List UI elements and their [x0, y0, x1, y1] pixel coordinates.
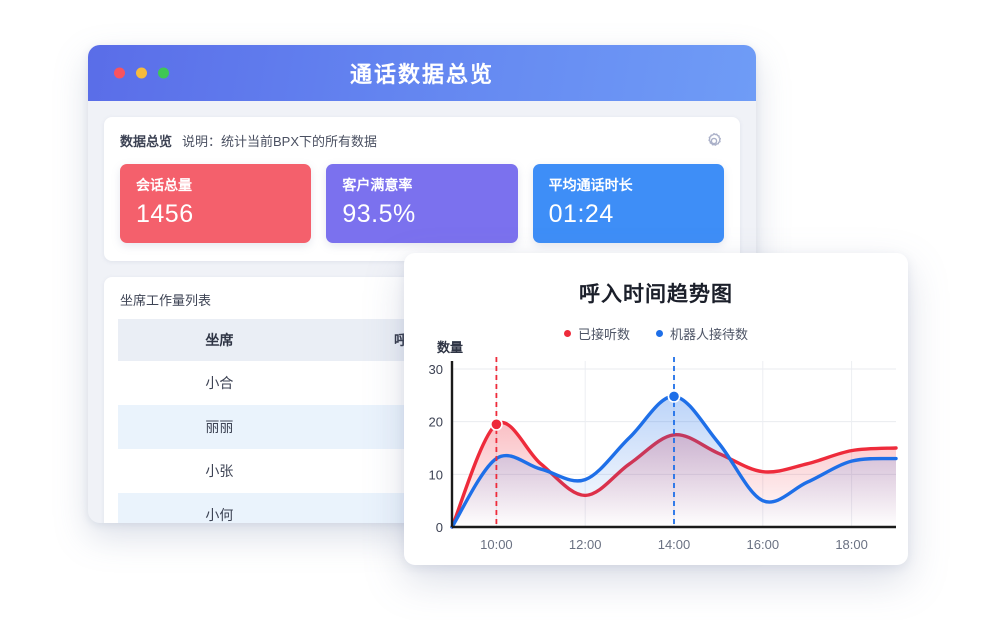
svg-text:20: 20 [429, 415, 443, 430]
legend-marker-icon [656, 330, 663, 337]
stat-card-avg-duration[interactable]: 平均通话时长 01:24 [533, 164, 724, 243]
svg-text:14:00: 14:00 [658, 537, 691, 552]
svg-text:16:00: 16:00 [747, 537, 780, 552]
svg-text:10:00: 10:00 [480, 537, 513, 552]
legend-label: 机器人接待数 [670, 324, 748, 343]
traffic-lights [114, 68, 169, 79]
stat-label: 会话总量 [136, 177, 295, 194]
chart-y-axis-label: 数量 [437, 337, 463, 356]
legend-label: 已接听数 [578, 324, 630, 343]
stat-value: 01:24 [549, 201, 708, 229]
cell-agent: 小何 [118, 493, 321, 523]
stat-card-satisfaction[interactable]: 客户满意率 93.5% [326, 164, 517, 243]
overview-card: 数据总览 说明：统计当前BPX下的所有数据 会话总量 1456 客户满意 [104, 117, 740, 261]
stat-label: 客户满意率 [342, 177, 501, 194]
stat-card-total-sessions[interactable]: 会话总量 1456 [120, 164, 311, 243]
close-button-icon[interactable] [114, 68, 125, 79]
svg-text:18:00: 18:00 [835, 537, 868, 552]
chart-title: 呼入时间趋势图 [404, 278, 908, 308]
overview-description: 说明：统计当前BPX下的所有数据 [182, 131, 377, 150]
chart-panel: 呼入时间趋势图 已接听数 机器人接待数 数量 010203010:0012:00… [404, 253, 908, 565]
maximize-button-icon[interactable] [158, 68, 169, 79]
chart-legend: 已接听数 机器人接待数 [404, 324, 908, 343]
svg-text:12:00: 12:00 [569, 537, 602, 552]
legend-item-robot[interactable]: 机器人接待数 [656, 324, 748, 343]
stat-label: 平均通话时长 [549, 177, 708, 194]
svg-text:30: 30 [429, 362, 443, 377]
legend-marker-icon [564, 330, 571, 337]
window-title: 通话数据总览 [88, 57, 756, 89]
cell-agent: 小合 [118, 361, 321, 405]
svg-text:0: 0 [436, 520, 443, 535]
overview-header: 数据总览 说明：统计当前BPX下的所有数据 [120, 131, 724, 150]
gear-icon[interactable] [704, 131, 724, 151]
svg-text:10: 10 [429, 467, 443, 482]
column-header-agent[interactable]: 坐席 [118, 319, 321, 361]
minimize-button-icon[interactable] [136, 68, 147, 79]
stat-card-list: 会话总量 1456 客户满意率 93.5% 平均通话时长 01:24 [120, 164, 724, 243]
stat-value: 93.5% [342, 201, 501, 229]
stat-value: 1456 [136, 201, 295, 229]
window-titlebar: 通话数据总览 [88, 45, 756, 101]
cell-agent: 小张 [118, 449, 321, 493]
overview-title: 数据总览 [120, 131, 172, 150]
legend-item-answered[interactable]: 已接听数 [564, 324, 630, 343]
cell-agent: 丽丽 [118, 405, 321, 449]
